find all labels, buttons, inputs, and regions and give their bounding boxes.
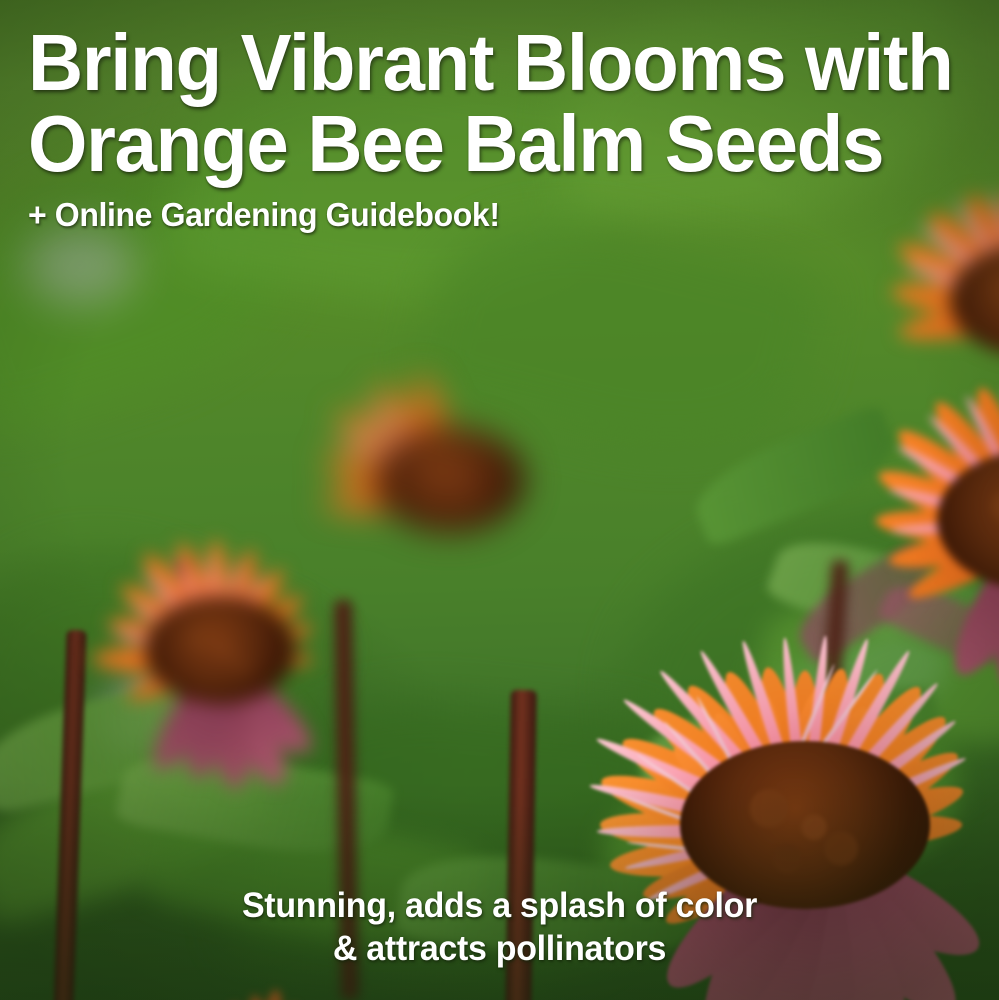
caption-line-2: & attracts pollinators: [15, 927, 984, 970]
flower-center-disc: [145, 596, 295, 704]
product-promo-image: Bring Vibrant Blooms with Orange Bee Bal…: [0, 0, 999, 1000]
bee-balm-bud-bottom-left: [175, 990, 355, 1000]
flower-center-disc: [375, 427, 525, 533]
headline-line-1: Bring Vibrant Blooms with: [28, 22, 940, 103]
caption-block: Stunning, adds a splash of color & attra…: [0, 884, 999, 970]
caption-line-1: Stunning, adds a splash of color: [15, 884, 984, 927]
bokeh-lilac-flower: [25, 225, 135, 305]
subheadline: + Online Gardening Guidebook!: [28, 196, 954, 234]
headline-line-2: Orange Bee Balm Seeds: [28, 103, 940, 184]
headline-block: Bring Vibrant Blooms with Orange Bee Bal…: [28, 22, 983, 234]
